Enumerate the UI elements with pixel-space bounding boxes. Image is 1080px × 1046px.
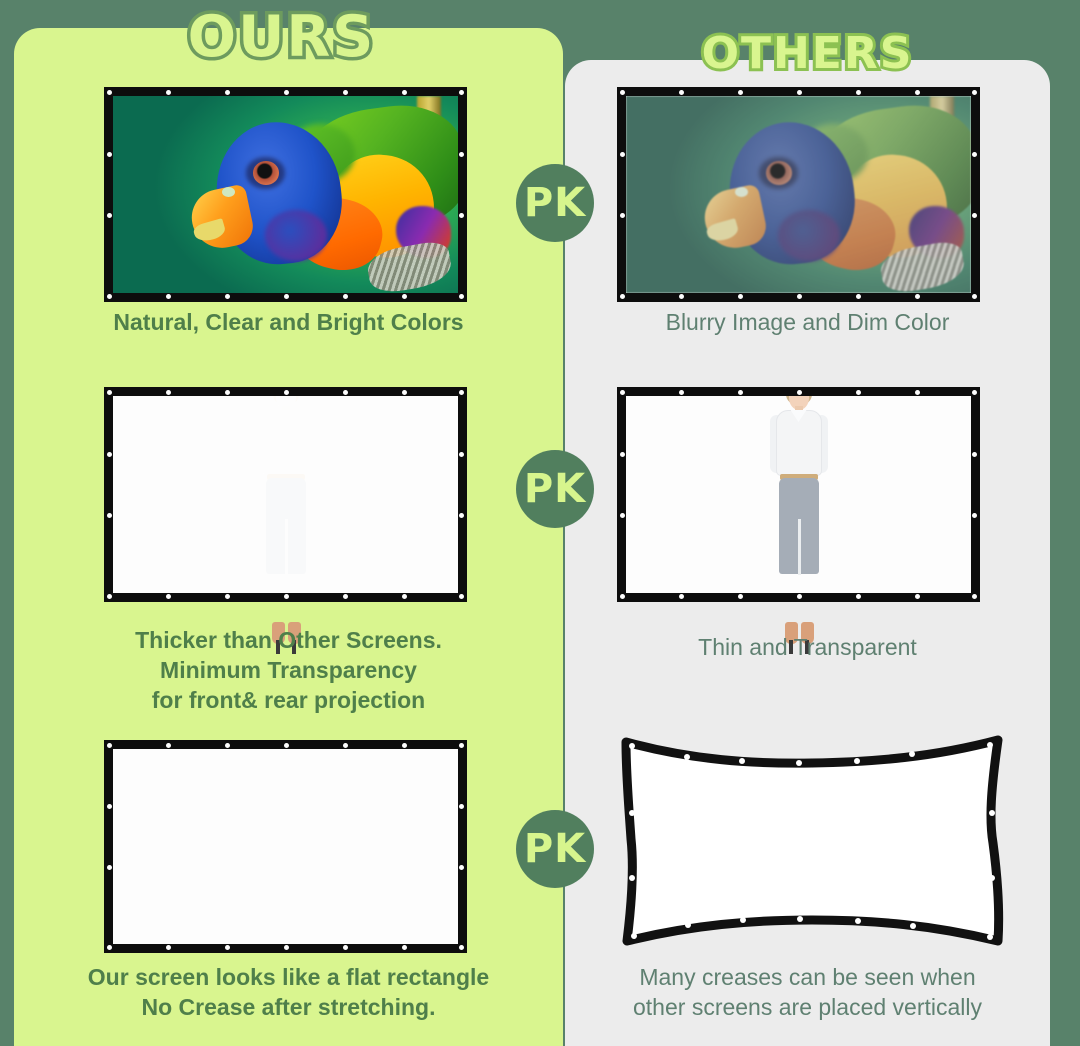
grommet <box>679 90 684 95</box>
grommet <box>343 390 348 395</box>
grommet <box>402 594 407 599</box>
grommet <box>107 513 112 518</box>
grommet <box>284 294 289 299</box>
grommet <box>284 945 289 950</box>
grommet <box>225 945 230 950</box>
grommet <box>915 90 920 95</box>
grommet <box>343 594 348 599</box>
grommet <box>459 452 464 457</box>
grommet <box>107 90 112 95</box>
grommet <box>284 390 289 395</box>
screen-ours-opaque <box>104 387 467 602</box>
grommet <box>459 90 464 95</box>
grommet <box>972 390 977 395</box>
screen-surface <box>626 96 971 293</box>
grommet <box>343 90 348 95</box>
grommet <box>915 390 920 395</box>
pk-badge-row1: PK <box>516 164 594 242</box>
screen-others-transparent <box>617 387 980 602</box>
grommet <box>225 390 230 395</box>
caption-others-image-quality: Blurry Image and Dim Color <box>565 308 1050 338</box>
parrot-image-dim <box>626 96 971 293</box>
caption-ours-flatness: Our screen looks like a flat rectangle N… <box>14 963 563 1023</box>
grommet <box>679 390 684 395</box>
grommet <box>797 90 802 95</box>
grommet <box>225 294 230 299</box>
screen-others-transparent-wrapper <box>617 387 980 602</box>
grommet <box>620 90 625 95</box>
grommet <box>225 594 230 599</box>
grommet <box>620 152 625 157</box>
grommet <box>738 390 743 395</box>
caption-line: Minimum Transparency <box>14 656 563 686</box>
grommet <box>972 152 977 157</box>
caption-line: Thicker than Other Screens. <box>14 626 563 656</box>
grommet <box>797 594 802 599</box>
screen-others-creased <box>612 727 1012 955</box>
grommet <box>225 743 230 748</box>
grommet <box>459 294 464 299</box>
caption-line: Our screen looks like a flat rectangle <box>14 963 563 993</box>
grommet <box>459 390 464 395</box>
grommet <box>972 513 977 518</box>
grommet <box>915 294 920 299</box>
grommet <box>856 390 861 395</box>
woman-figure-behind-others <box>758 396 840 593</box>
grommet <box>107 152 112 157</box>
screen-others-parrot <box>617 87 980 302</box>
grommet <box>225 90 230 95</box>
grommet <box>343 294 348 299</box>
grommet <box>343 945 348 950</box>
caption-ours-thickness: Thicker than Other Screens. Minimum Tran… <box>14 626 563 716</box>
grommet <box>459 743 464 748</box>
grommet <box>459 945 464 950</box>
caption-others-flatness: Many creases can be seen when other scre… <box>565 963 1050 1023</box>
grommet <box>856 90 861 95</box>
screen-surface <box>113 96 458 293</box>
screen-ours-parrot <box>104 87 467 302</box>
grommet <box>166 945 171 950</box>
grommet <box>107 452 112 457</box>
screen-ours-opaque-wrapper <box>104 387 467 602</box>
grommet <box>284 90 289 95</box>
caption-line: Many creases can be seen when <box>565 963 1050 993</box>
pk-badge-row3: PK <box>516 810 594 888</box>
grommet <box>738 90 743 95</box>
heading-ours: OURS <box>0 4 563 70</box>
grommet <box>856 594 861 599</box>
grommet <box>107 804 112 809</box>
grommet <box>972 294 977 299</box>
grommet <box>459 594 464 599</box>
grommet <box>679 594 684 599</box>
grommet <box>972 90 977 95</box>
grommet <box>459 513 464 518</box>
grommet <box>915 594 920 599</box>
creased-screen-surface <box>626 740 999 941</box>
grommet <box>107 865 112 870</box>
screen-ours-flat <box>104 740 467 953</box>
grommet <box>107 594 112 599</box>
grommet <box>620 594 625 599</box>
grommet <box>166 594 171 599</box>
grommet <box>107 294 112 299</box>
woman-figure-behind-ours <box>245 396 327 593</box>
grommet <box>620 513 625 518</box>
caption-line: other screens are placed vertically <box>565 993 1050 1023</box>
grommet <box>620 294 625 299</box>
screen-surface <box>113 396 458 593</box>
grommet <box>620 390 625 395</box>
grommet <box>620 213 625 218</box>
grommet <box>402 90 407 95</box>
caption-ours-image-quality: Natural, Clear and Bright Colors <box>14 308 563 338</box>
grommet <box>459 152 464 157</box>
grommet <box>166 90 171 95</box>
grommet <box>738 594 743 599</box>
heading-others: OTHERS <box>565 28 1050 79</box>
grommet <box>972 594 977 599</box>
grommet <box>402 743 407 748</box>
grommet <box>797 294 802 299</box>
grommet <box>856 294 861 299</box>
grommet <box>972 213 977 218</box>
screen-surface <box>113 749 458 944</box>
grommet <box>459 213 464 218</box>
caption-line: No Crease after stretching. <box>14 993 563 1023</box>
grommet <box>343 743 348 748</box>
grommet <box>107 390 112 395</box>
grommet <box>284 743 289 748</box>
grommet <box>402 945 407 950</box>
pk-badge-row2: PK <box>516 450 594 528</box>
grommet <box>797 390 802 395</box>
grommet <box>402 294 407 299</box>
grommet <box>738 294 743 299</box>
grommet <box>620 452 625 457</box>
grommet <box>402 390 407 395</box>
grommet <box>107 213 112 218</box>
grommet <box>166 294 171 299</box>
caption-others-thickness: Thin and Transparent <box>565 633 1050 663</box>
parrot-image-bright <box>113 96 458 293</box>
grommet <box>459 804 464 809</box>
grommet <box>459 865 464 870</box>
grommet <box>166 390 171 395</box>
grommet <box>972 452 977 457</box>
grommet <box>679 294 684 299</box>
grommet <box>107 945 112 950</box>
screen-surface <box>626 396 971 593</box>
caption-line: Thin and Transparent <box>565 633 1050 663</box>
grommet <box>107 743 112 748</box>
grommet <box>166 743 171 748</box>
caption-line: for front& rear projection <box>14 686 563 716</box>
grommet <box>284 594 289 599</box>
